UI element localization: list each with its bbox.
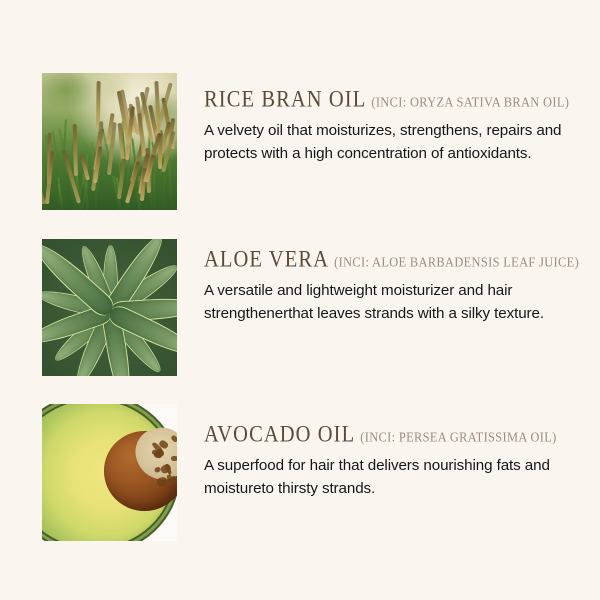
ingredient-inci: (INCI: Aloe Barbadensis Leaf Juice) xyxy=(334,256,579,270)
ingredient-title: Avocado Oil xyxy=(204,423,355,447)
ingredient-copy: Rice Bran Oil(INCI: Oryza Sativa Bran Oi… xyxy=(204,73,582,165)
ingredient-inci: (INCI: Oryza Sativa Bran Oil) xyxy=(371,96,569,110)
avocado-pit xyxy=(104,431,177,510)
ingredient-row-avocado-oil: Avocado Oil(INCI: Persea Gratissima Oil)… xyxy=(42,404,582,541)
ingredient-headline: Aloe Vera(INCI: Aloe Barbadensis Leaf Ju… xyxy=(204,251,582,273)
ingredient-inci: (INCI: Persea Gratissima Oil) xyxy=(360,431,556,445)
ingredient-copy: Avocado Oil(INCI: Persea Gratissima Oil)… xyxy=(204,404,582,500)
ingredient-title: Aloe Vera xyxy=(204,248,329,272)
avocado-half-photo xyxy=(42,404,177,541)
ingredient-headline: Rice Bran Oil(INCI: Oryza Sativa Bran Oi… xyxy=(204,91,582,113)
ingredient-copy: Aloe Vera(INCI: Aloe Barbadensis Leaf Ju… xyxy=(204,239,582,325)
ingredient-description: A versatile and lightweight moisturizer … xyxy=(204,279,582,325)
ingredient-row-aloe-vera: Aloe Vera(INCI: Aloe Barbadensis Leaf Ju… xyxy=(42,239,582,376)
ingredient-description: A velvety oil that moisturizes, strength… xyxy=(204,119,582,165)
ingredient-row-rice-bran-oil: Rice Bran Oil(INCI: Oryza Sativa Bran Oi… xyxy=(42,73,582,210)
aloe-vera-plant-photo xyxy=(42,239,177,376)
ingredient-description: A superfood for hair that delivers nouri… xyxy=(204,454,582,500)
rice-bran-field-photo xyxy=(42,73,177,210)
ingredient-headline: Avocado Oil(INCI: Persea Gratissima Oil) xyxy=(204,426,582,448)
ingredient-benefits-panel: Rice Bran Oil(INCI: Oryza Sativa Bran Oi… xyxy=(0,0,600,600)
ingredient-title: Rice Bran Oil xyxy=(204,88,366,112)
